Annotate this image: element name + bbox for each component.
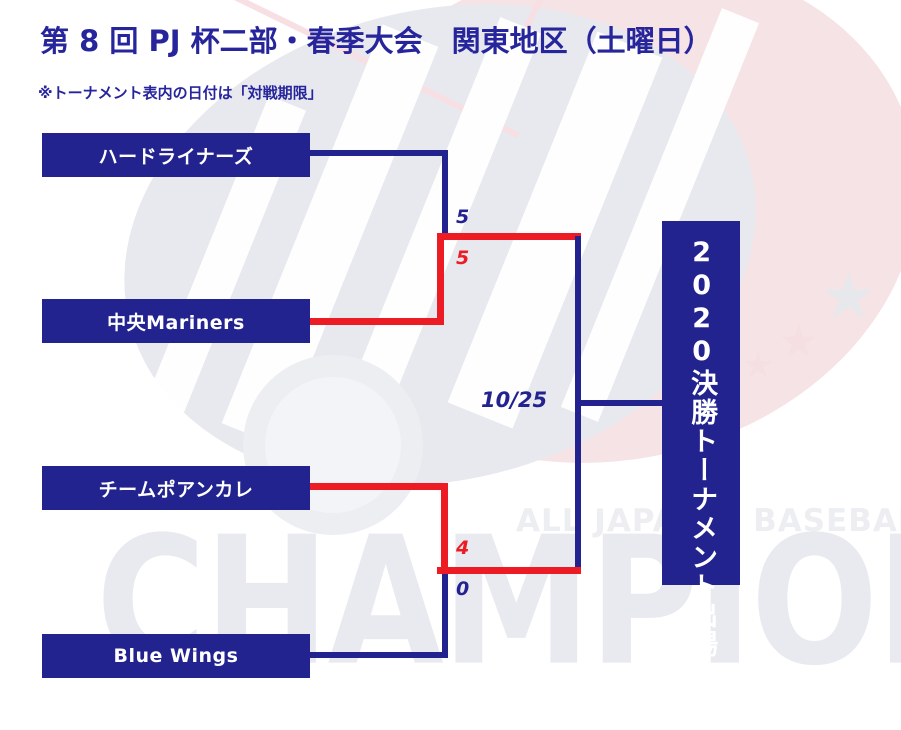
team-box-3[interactable]: チームポアンカレ bbox=[42, 466, 310, 510]
score-semifinal-bottom-upper: 4 bbox=[456, 537, 469, 559]
team-name-1: ハードライナーズ bbox=[99, 142, 254, 169]
connector-team2-vertical bbox=[437, 233, 444, 325]
advance-to-finals-box[interactable]: 2020決勝トーナメント出場 bbox=[662, 221, 740, 585]
background-watermark: ★ ★ ★ ★ ALL JAPAN R BASEBALL CHAMPIONSHI… bbox=[0, 0, 901, 730]
connector-team1-horizontal bbox=[308, 150, 448, 156]
team-box-2[interactable]: 中央Mariners bbox=[42, 299, 310, 343]
watermark-star-icon-2: ★ bbox=[778, 318, 819, 364]
watermark-star-icon-1: ★ bbox=[820, 265, 877, 329]
connector-team1-vertical bbox=[442, 150, 448, 238]
team-box-1[interactable]: ハードライナーズ bbox=[42, 133, 310, 177]
watermark-star-icon-3: ★ bbox=[742, 348, 774, 384]
team-box-4[interactable]: Blue Wings bbox=[42, 634, 310, 678]
connector-team2-horizontal bbox=[308, 318, 442, 325]
score-semifinal-bottom-lower: 0 bbox=[456, 578, 469, 600]
page-title: 第 8 回 PJ 杯二部・春季大会 関東地区（土曜日） bbox=[40, 18, 713, 60]
connector-team4-vertical bbox=[442, 568, 448, 658]
team-name-2: 中央Mariners bbox=[107, 308, 245, 335]
watermark-slash-3 bbox=[448, 31, 663, 428]
connector-semifinal-bottom-winner bbox=[437, 567, 581, 574]
advance-to-finals-label: 2020決勝トーナメント出場 bbox=[687, 237, 715, 659]
final-match-date: 10/25 bbox=[481, 388, 547, 412]
team-name-3: チームポアンカレ bbox=[99, 475, 254, 502]
connector-team4-horizontal bbox=[308, 652, 448, 658]
page-note: ※トーナメント表内の日付は「対戦期限」 bbox=[38, 82, 323, 103]
connector-team3-vertical bbox=[441, 483, 448, 573]
connector-final-horizontal bbox=[575, 400, 665, 406]
tournament-bracket-page: ★ ★ ★ ★ ALL JAPAN R BASEBALL CHAMPIONSHI… bbox=[0, 0, 901, 730]
score-semifinal-top-lower: 5 bbox=[456, 247, 469, 269]
connector-team3-horizontal bbox=[308, 483, 448, 490]
score-semifinal-top-upper: 5 bbox=[456, 206, 469, 228]
connector-semifinal-top-winner bbox=[437, 233, 581, 240]
team-name-4: Blue Wings bbox=[114, 645, 239, 667]
